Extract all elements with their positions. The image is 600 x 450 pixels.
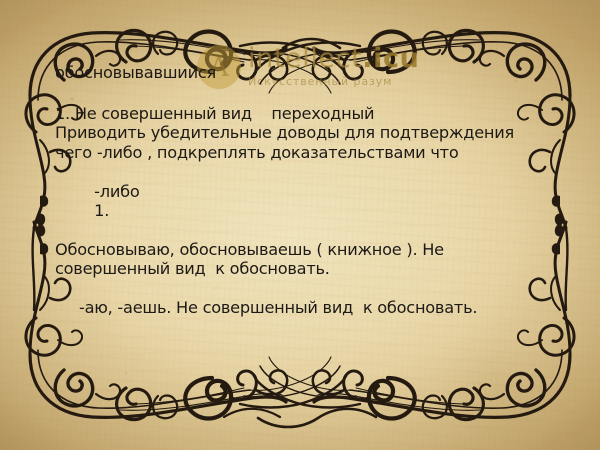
entry-sense-2: -аю, -аешь. Не совершенный вид к обоснов…	[55, 298, 547, 317]
sense-1-line-4-number: 1.	[94, 201, 112, 220]
sense-1-line-4: -либо 1.	[55, 162, 547, 240]
sense-1-line-1: 1. Не совершенный вид переходный	[55, 104, 547, 123]
sense-1-line-2: Приводить убедительные доводы для подтве…	[55, 123, 547, 142]
sense-1-line-6: совершенный вид к обосновать.	[55, 259, 547, 278]
sense-1-line-4-lead: -либо	[94, 182, 139, 201]
dictionary-entry: обосновывавшийся 1. Не совершенный вид п…	[55, 62, 547, 317]
slide-canvas: A intellect.icu Искусственный разум обос…	[0, 0, 600, 450]
sense-1-line-5: Обосновываю, обосновываешь ( книжное ). …	[55, 240, 547, 259]
entry-headword: обосновывавшийся	[55, 62, 547, 84]
sense-1-line-3: чего -либо , подкреплять доказательствам…	[55, 143, 547, 162]
entry-sense-1: 1. Не совершенный вид переходный Приводи…	[55, 104, 547, 279]
sense-2-line-1: -аю, -аешь. Не совершенный вид к обоснов…	[55, 298, 547, 317]
